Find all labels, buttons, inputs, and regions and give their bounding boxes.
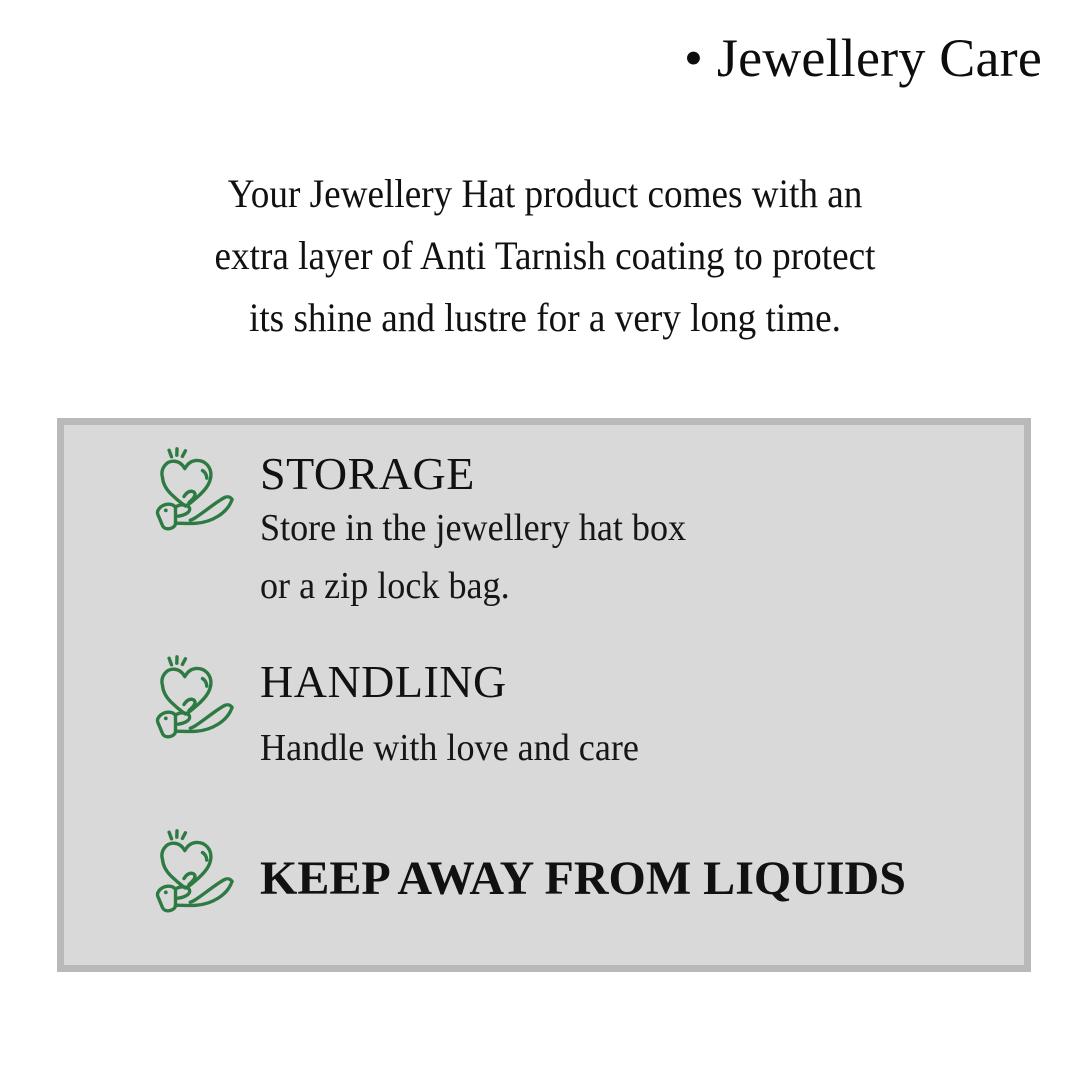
care-item-heading: STORAGE [260,448,475,499]
care-instructions-box: STORAGE Store in the jewellery hat box o… [57,418,1031,972]
care-item-line-2: or a zip lock bag. [260,557,686,615]
hand-holding-heart-icon [142,447,242,547]
care-item-line-1: Handle with love and care [260,719,639,777]
care-item-text: KEEP AWAY FROM LIQUIDS [260,854,906,904]
intro-line-2: extra layer of Anti Tarnish coating to p… [103,225,987,287]
care-item-storage: STORAGE Store in the jewellery hat box o… [142,447,709,615]
care-item-text: STORAGE Store in the jewellery hat box o… [260,447,709,615]
intro-line-3: its shine and lustre for a very long tim… [103,287,987,349]
care-item-heading: HANDLING [260,656,507,707]
intro-paragraph: Your Jewellery Hat product comes with an… [103,163,987,349]
care-item-keep-away-from-liquids: KEEP AWAY FROM LIQUIDS [142,829,906,929]
hand-holding-heart-icon [142,829,242,929]
page-title: • Jewellery Care [684,30,1042,87]
page-title-row: • Jewellery Care [0,30,1042,87]
hand-holding-heart-icon [142,655,242,755]
care-instructions-list: STORAGE Store in the jewellery hat box o… [64,425,1024,965]
care-item-handling: HANDLING Handle with love and care [142,655,659,777]
care-item-text: HANDLING Handle with love and care [260,655,659,777]
care-item-heading: KEEP AWAY FROM LIQUIDS [260,852,906,905]
intro-line-1: Your Jewellery Hat product comes with an [103,163,987,225]
care-item-line-1: Store in the jewellery hat box [260,499,686,557]
